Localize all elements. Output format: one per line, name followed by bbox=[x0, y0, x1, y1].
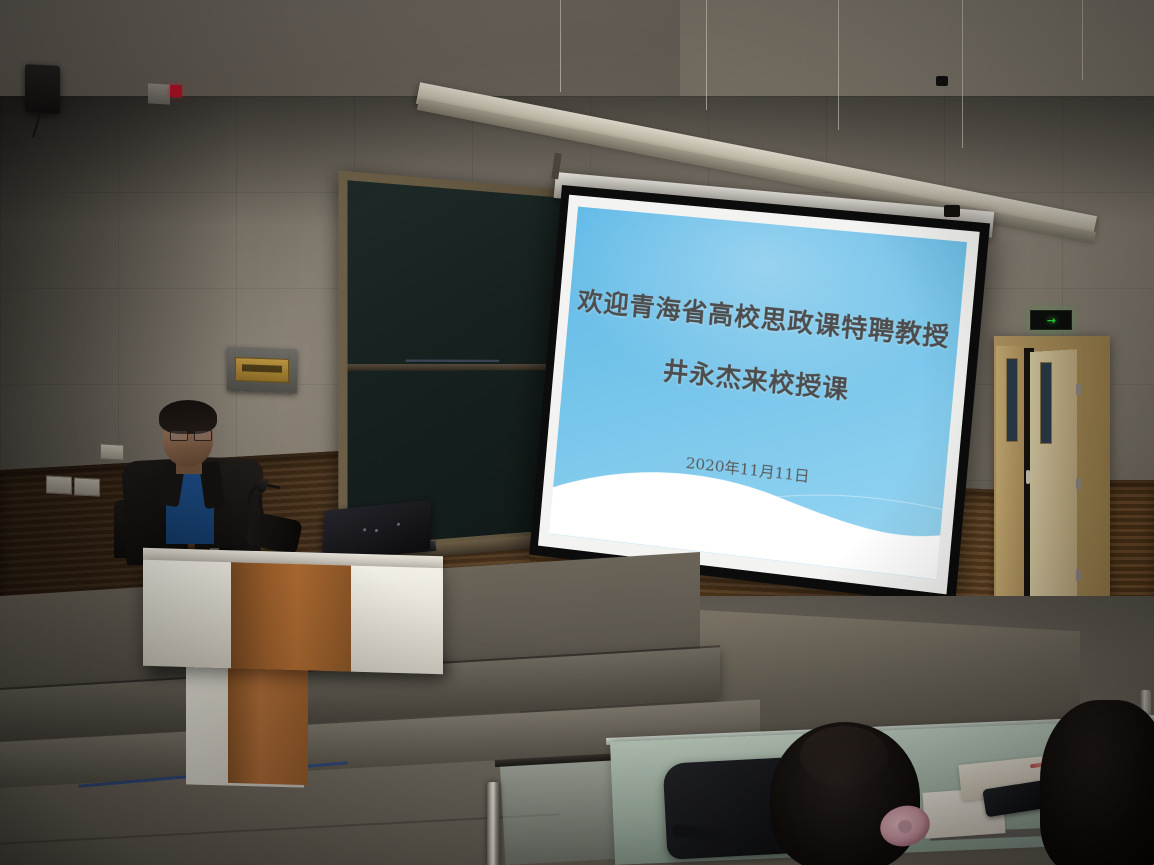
podium bbox=[143, 560, 443, 674]
wall-speaker bbox=[25, 64, 60, 114]
ceiling-hanger-rod bbox=[838, 0, 839, 130]
projection-screen-border: 欢迎青海省高校思政课特聘教授 井永杰来校授课 2020年11月11日 bbox=[538, 195, 980, 595]
exit-arrow-icon: → bbox=[1047, 315, 1055, 326]
laptop-indicator-icon bbox=[375, 529, 378, 532]
eyeglass-lens-left bbox=[170, 430, 188, 441]
control-panel-slot bbox=[242, 364, 282, 372]
door-leaf-open[interactable] bbox=[1030, 349, 1077, 622]
ceiling-hanger-rod bbox=[560, 0, 561, 92]
eyeglass-lens-right bbox=[194, 430, 212, 441]
pink-scrunchie-knot bbox=[898, 820, 912, 833]
lecture-hall-scene: 欢迎青海省高校思政课特聘教授 井永杰来校授课 2020年11月11日 → bbox=[0, 0, 1154, 865]
door-hinge bbox=[1076, 478, 1081, 489]
door-hinge bbox=[1076, 570, 1081, 581]
hair bbox=[159, 400, 217, 434]
presentation-slide: 欢迎青海省高校思政课特聘教授 井永杰来校授课 2020年11月11日 bbox=[549, 207, 967, 580]
control-panel-plate bbox=[235, 357, 289, 383]
podium-panel-right bbox=[351, 566, 443, 675]
blackboard-chalk-mark bbox=[406, 360, 500, 362]
power-outlet[interactable] bbox=[74, 477, 100, 496]
door-hinge bbox=[1076, 384, 1081, 395]
eyeglasses-icon bbox=[170, 430, 212, 439]
projector-camera-icon bbox=[944, 205, 960, 217]
student-hair-highlight bbox=[800, 726, 888, 786]
security-camera-led-icon bbox=[170, 85, 182, 97]
podium-panel-left bbox=[143, 560, 231, 668]
ceiling-hanger-rod bbox=[962, 0, 963, 148]
door-window-left bbox=[1006, 358, 1018, 442]
student-front-right bbox=[1040, 700, 1154, 865]
door-window-right bbox=[1040, 362, 1052, 444]
emergency-exit-sign: → bbox=[1030, 310, 1072, 330]
railing-post bbox=[487, 782, 500, 865]
laptop-indicator-icon bbox=[397, 523, 400, 526]
power-outlet[interactable] bbox=[46, 475, 72, 494]
security-camera bbox=[148, 83, 170, 104]
ceiling-hanger-rod bbox=[1082, 0, 1083, 80]
ceiling-hanger-rod bbox=[706, 0, 707, 110]
projection-screen: 欢迎青海省高校思政课特聘教授 井永杰来校授课 2020年11月11日 bbox=[529, 185, 990, 606]
door-handle[interactable] bbox=[1026, 470, 1030, 484]
ceiling-camera-icon bbox=[936, 76, 948, 86]
podium-pedestal-wood-panel bbox=[228, 663, 308, 785]
presenter bbox=[118, 396, 308, 571]
laptop-indicator-icon bbox=[363, 528, 366, 531]
podium-panel-center-wood bbox=[231, 562, 351, 671]
wall-control-panel[interactable] bbox=[227, 347, 297, 393]
